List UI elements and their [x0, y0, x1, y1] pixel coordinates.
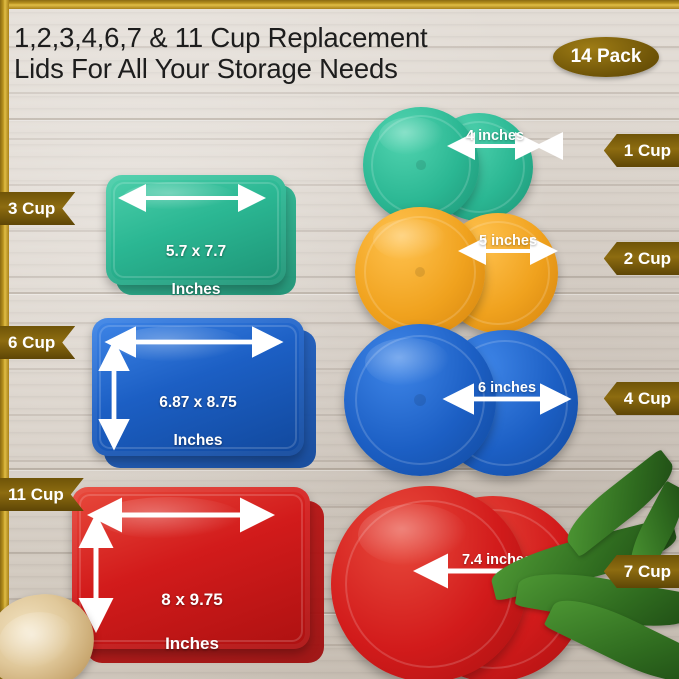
tag-1-cup-label: 1 Cup: [624, 141, 671, 161]
red-rect-size-label: 8 x 9.75 Inches: [78, 567, 306, 655]
blue-rect-dimension-arrow: [105, 332, 283, 352]
tag-4-cup-label: 4 Cup: [624, 389, 671, 409]
orange-round-size-label: 5 inches: [458, 232, 558, 250]
title-line-1: 1,2,3,4,6,7 & 11 Cup Replacement: [14, 22, 544, 53]
orange-round-lid: [355, 207, 485, 337]
tag-11-cup-label: 11 Cup: [8, 485, 64, 505]
plank-seam: [0, 292, 679, 294]
tag-7-cup: 7 Cup: [604, 555, 679, 588]
tag-2-cup: 2 Cup: [604, 242, 679, 275]
blue-rect-size-label: 6.87 x 8.75 Inches: [96, 374, 300, 450]
teal-rect-size-line2: Inches: [171, 281, 220, 298]
teal-rect-dimension-arrow: [118, 188, 266, 208]
pack-count-label: 14 Pack: [571, 46, 642, 68]
teal-rect-size-label: 5.7 x 7.7 Inches: [110, 223, 282, 299]
teal-round-size-label: 4 inches: [447, 127, 543, 145]
tag-2-cup-label: 2 Cup: [624, 249, 671, 269]
tag-7-cup-label: 7 Cup: [624, 562, 671, 582]
teal-round-lid: [363, 107, 479, 223]
red-rect-size-line1: 8 x 9.75: [161, 590, 222, 609]
plank-seam: [0, 118, 679, 120]
blue-round-size-label: 6 inches: [443, 379, 571, 397]
product-image: 1,2,3,4,6,7 & 11 Cup Replacement Lids Fo…: [0, 0, 679, 679]
tag-6-cup-label: 6 Cup: [8, 333, 55, 353]
red-rect-dimension-arrow: [88, 505, 274, 525]
red-rect-size-line2: Inches: [165, 634, 219, 653]
tag-1-cup: 1 Cup: [604, 134, 679, 167]
tag-4-cup: 4 Cup: [604, 382, 679, 415]
blue-rect-size-line1: 6.87 x 8.75: [159, 394, 237, 411]
plank-seam: [0, 468, 679, 470]
blue-rect-size-line2: Inches: [173, 432, 222, 449]
gold-bar-top: [0, 0, 679, 9]
tag-3-cup-label: 3 Cup: [8, 199, 55, 219]
teal-rect-size-line1: 5.7 x 7.7: [166, 243, 226, 260]
title-line-2: Lids For All Your Storage Needs: [14, 53, 544, 84]
pack-count-badge: 14 Pack: [553, 37, 659, 77]
page-title: 1,2,3,4,6,7 & 11 Cup Replacement Lids Fo…: [14, 22, 544, 84]
